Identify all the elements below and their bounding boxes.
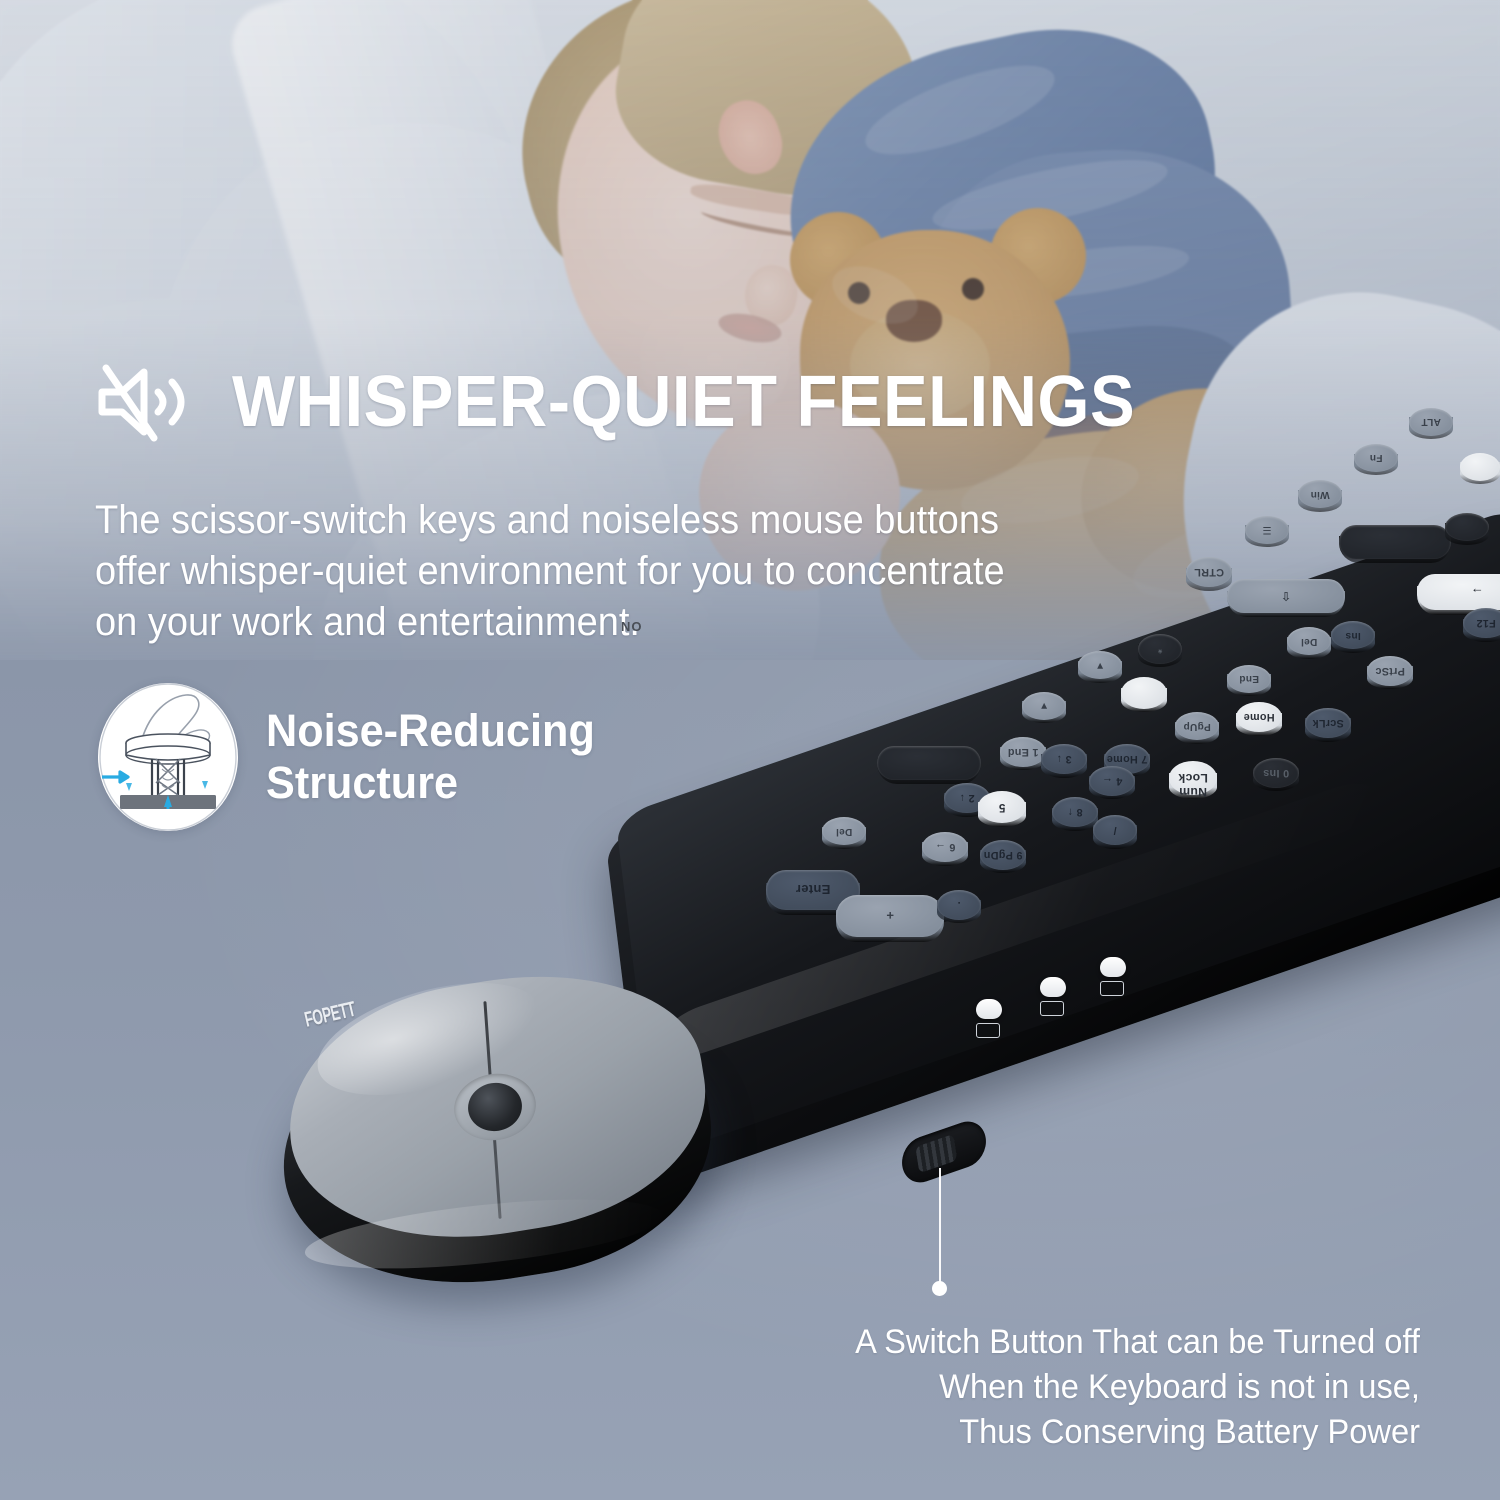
power-switch-knob[interactable] — [915, 1134, 957, 1173]
scroll-lock-indicator[interactable] — [1100, 957, 1126, 977]
scroll-lock-indicator-icon — [1100, 981, 1124, 996]
keycap-top: End — [1227, 665, 1271, 693]
keycap-label: 5 — [978, 801, 1026, 813]
keycap[interactable]: . — [937, 890, 981, 940]
num-lock-indicator[interactable] — [1040, 977, 1066, 997]
keycap-top — [877, 746, 981, 780]
keycap[interactable]: 8 ↑ — [1052, 797, 1098, 847]
keycap-label: CTRL — [1186, 566, 1232, 578]
keycap[interactable]: 6 → — [922, 832, 968, 882]
feature-badge: Noise-Reducing Structure — [98, 683, 609, 831]
keycap-label: / — [1093, 824, 1137, 836]
keycap[interactable]: ▼ — [1078, 651, 1122, 699]
keycap-top — [1121, 677, 1167, 709]
keycap-top: * — [1138, 634, 1182, 664]
callout-line: A Switch Button That can be Turned off — [671, 1320, 1420, 1365]
keycap[interactable]: F12 — [1463, 608, 1500, 658]
callout-line: When the Keyboard is not in use, — [671, 1365, 1420, 1410]
keycap-label: ▼ — [1022, 700, 1066, 711]
keycap[interactable] — [1445, 513, 1489, 561]
keycap-top: + — [836, 895, 944, 937]
keycap-top: ALT — [1409, 408, 1453, 436]
keycap-top: 1 End — [1000, 737, 1046, 767]
keycap-top: Del — [1287, 627, 1331, 655]
keycap-label: Win — [1298, 489, 1342, 500]
keycap-label: ⇧ — [1227, 589, 1345, 603]
product-feature-banner: WHISPER-QUIET FEELINGS The scissor-switc… — [0, 0, 1500, 1500]
keycap[interactable]: CTRL — [1186, 557, 1232, 607]
keycap[interactable]: Fn — [1354, 444, 1398, 492]
keycap[interactable]: ⇧ — [1227, 579, 1345, 633]
scissor-switch-diagram-icon — [98, 683, 238, 831]
keycap[interactable]: Del — [822, 817, 866, 865]
mute-speaker-icon — [92, 362, 210, 442]
keycap-top: Fn — [1354, 444, 1398, 472]
body-copy-line: The scissor-switch keys and noiseless mo… — [95, 495, 1112, 546]
keycap[interactable]: ☰ — [1245, 516, 1289, 564]
caps-lock-indicator-icon — [976, 1023, 1000, 1038]
power-switch-label: ON — [620, 619, 642, 634]
keycap-top: ⇧ — [1227, 579, 1345, 613]
keycap-top: 0 Ins — [1253, 758, 1299, 788]
keycap-label: Fn — [1354, 452, 1398, 463]
keycap-label: ALT — [1409, 416, 1453, 427]
keycap-label: . — [937, 899, 981, 911]
num-lock-indicator-icon — [1040, 1001, 1064, 1016]
callout-caption: A Switch Button That can be Turned off W… — [671, 1320, 1420, 1456]
keycap-top: → — [1417, 574, 1500, 610]
keycap-label: 3 ↓ — [1041, 753, 1087, 765]
keycap[interactable]: Num Lock — [1169, 761, 1217, 815]
keycap-top — [1445, 513, 1489, 541]
keycap-label: Del — [822, 826, 866, 837]
wireless-keyboard: ALTFnWin☰CTRL▼▼⇧*Del1 EndEnter2 ↓3 ↓5Del… — [600, 575, 1500, 1215]
keycap[interactable]: 0 Ins — [1253, 758, 1299, 808]
callout-line: Thus Conserving Battery Power — [671, 1410, 1420, 1455]
keycap-label: ▼ — [1078, 660, 1122, 671]
keycap[interactable]: ScrLk — [1305, 708, 1351, 758]
keycap-label: ☰ — [1245, 524, 1289, 535]
keycap-label: PrtSc — [1367, 665, 1413, 677]
keycap-top: ▼ — [1022, 692, 1066, 720]
feature-label-line: Noise-Reducing — [266, 705, 595, 757]
power-switch[interactable] — [899, 1116, 989, 1189]
keycap-label: 6 → — [922, 841, 968, 853]
keycap[interactable]: Home — [1236, 702, 1282, 752]
keycap[interactable]: PrtSc — [1367, 656, 1413, 706]
keycap[interactable]: ▼ — [1022, 692, 1066, 740]
keycap[interactable]: 5 — [978, 791, 1026, 843]
wireless-mouse: FOPETT — [278, 975, 718, 1285]
keycap-top — [1339, 525, 1451, 559]
keycap-top: PrtSc — [1367, 656, 1413, 686]
keycap[interactable]: + — [836, 895, 944, 957]
callout-leader-line — [939, 1168, 941, 1286]
keycap[interactable]: 1 End — [1000, 737, 1046, 787]
keycap-top — [1460, 453, 1500, 481]
keycap-label: Ins — [1331, 630, 1375, 641]
headline-row: WHISPER-QUIET FEELINGS — [92, 362, 1203, 442]
keycap[interactable]: ALT — [1409, 408, 1453, 456]
keycap-top: 6 → — [922, 832, 968, 862]
keycap-label: F12 — [1463, 617, 1500, 629]
keycap-label: Home — [1236, 711, 1282, 723]
feature-badge-label: Noise-Reducing Structure — [266, 705, 595, 809]
feature-label-line: Structure — [266, 757, 595, 809]
keycap[interactable] — [1460, 453, 1500, 501]
keycap[interactable]: Del — [1287, 627, 1331, 675]
keycap-top: . — [937, 890, 981, 920]
keycap[interactable]: 3 ↓ — [1041, 744, 1087, 794]
keycap-label: 1 End — [1000, 746, 1046, 758]
page-title: WHISPER-QUIET FEELINGS — [232, 366, 1135, 438]
keycap-top: Del — [822, 817, 866, 845]
keycap[interactable]: PgUp — [1175, 712, 1219, 760]
keycap-label: → — [1417, 585, 1500, 600]
keycap-label: + — [836, 908, 944, 923]
keycap-label: 0 Ins — [1253, 767, 1299, 779]
keycap-top: ☰ — [1245, 516, 1289, 544]
keycap-top: 4 ← — [1089, 766, 1135, 796]
keycap-label: ScrLk — [1305, 717, 1351, 729]
keycap-label: * — [1138, 643, 1182, 655]
callout-dot — [932, 1281, 947, 1296]
keycap-label: Del — [1287, 636, 1331, 647]
keycap-label: 8 ↑ — [1052, 806, 1098, 818]
keycap-top: 9 PgDn — [980, 840, 1026, 870]
caps-lock-indicator[interactable] — [976, 999, 1002, 1019]
keycap[interactable] — [1121, 677, 1167, 729]
keycap-label: PgUp — [1175, 721, 1219, 732]
keycap-label: End — [1227, 673, 1271, 684]
keycap-label: 9 PgDn — [980, 849, 1026, 861]
keycap[interactable]: 9 PgDn — [980, 840, 1026, 890]
keycap[interactable]: Win — [1298, 480, 1342, 528]
keycap[interactable] — [1339, 525, 1451, 579]
keycap-label: 7 Home — [1104, 753, 1150, 765]
keycap-label: 4 ← — [1089, 775, 1135, 787]
keycap[interactable]: / — [1093, 815, 1137, 865]
